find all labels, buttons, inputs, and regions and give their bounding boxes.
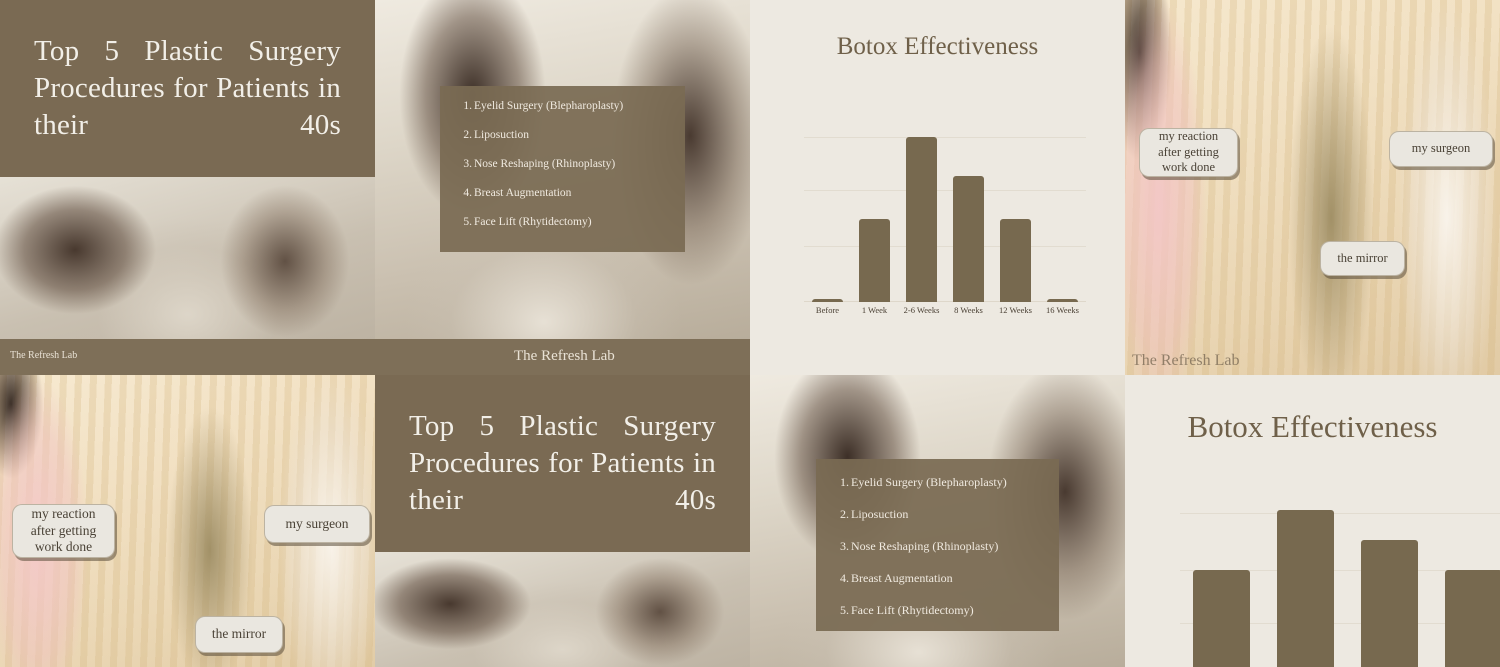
x-tick-label: 1 Week: [851, 305, 898, 315]
caption-bubble-mirror[interactable]: the mirror: [195, 616, 283, 653]
list-item: 5. Face Lift (Rhytidectomy): [458, 216, 669, 228]
chart-title: Botox Effectiveness: [1125, 409, 1500, 445]
bar-12-weeks[interactable]: [1445, 570, 1500, 667]
list-item: 1. Eyelid Surgery (Blepharoplasty): [458, 100, 669, 112]
list-item-label: Breast Augmentation: [474, 187, 571, 199]
list-item-number: 3.: [834, 539, 849, 554]
list-item: 4. Breast Augmentation: [834, 571, 1043, 586]
panel-procedure-list-bottom[interactable]: 1. Eyelid Surgery (Blepharoplasty) 2. Li…: [750, 375, 1125, 667]
title-block: Top 5 Plastic Surgery Procedures for Pat…: [0, 0, 375, 177]
mirror-photo-image-3: [375, 552, 750, 667]
list-item-label: Eyelid Surgery (Blepharoplasty): [474, 100, 623, 112]
bar-before[interactable]: [812, 299, 844, 302]
panel-title-card-bottom[interactable]: Top 5 Plastic Surgery Procedures for Pat…: [375, 375, 750, 667]
bar-slot: [804, 132, 851, 302]
bar-2-6-weeks[interactable]: [906, 137, 938, 302]
caption-bubble-mirror[interactable]: the mirror: [1320, 241, 1405, 276]
bar-8-weeks[interactable]: [1361, 540, 1418, 667]
page-title: Top 5 Plastic Surgery Procedures for Pat…: [409, 408, 716, 519]
list-item-label: Liposuction: [474, 129, 529, 141]
list-item-number: 4.: [458, 187, 472, 199]
bar-slot: [945, 132, 992, 302]
bar-slot: [1180, 510, 1264, 667]
list-item: 4. Breast Augmentation: [458, 187, 669, 199]
brand-label-left: The Refresh Lab: [10, 350, 77, 361]
list-item: 1. Eyelid Surgery (Blepharoplasty): [834, 475, 1043, 490]
list-item-number: 2.: [458, 129, 472, 141]
panel-meme-bottom-left[interactable]: my reaction after getting work done my s…: [0, 375, 375, 667]
bar-2-6-weeks[interactable]: [1277, 510, 1334, 667]
caption-bubble-reaction[interactable]: my reaction after getting work done: [1139, 128, 1238, 177]
list-item-number: 2.: [834, 507, 849, 522]
list-item-number: 5.: [834, 603, 849, 618]
list-item-number: 5.: [458, 216, 472, 228]
x-tick-label: 16 Weeks: [1039, 305, 1086, 315]
page-title: Top 5 Plastic Surgery Procedures for Pat…: [34, 33, 341, 144]
panel-botox-chart-zoomed[interactable]: Botox Effectiveness: [1125, 375, 1500, 667]
x-tick-label: 2-6 Weeks: [898, 305, 945, 315]
chart-bars: [804, 132, 1086, 302]
title-block: Top 5 Plastic Surgery Procedures for Pat…: [375, 375, 750, 552]
bar-slot: [1264, 510, 1348, 667]
list-item-label: Nose Reshaping (Rhinoplasty): [474, 158, 615, 170]
list-item: 2. Liposuction: [834, 507, 1043, 522]
caption-bubble-surgeon[interactable]: my surgeon: [1389, 131, 1493, 167]
photo-mirror-top-left: [0, 177, 375, 339]
list-item: 2. Liposuction: [458, 129, 669, 141]
procedure-list-card: 1. Eyelid Surgery (Blepharoplasty) 2. Li…: [816, 459, 1059, 631]
bar-8-weeks[interactable]: [953, 176, 985, 302]
list-item: 3. Nose Reshaping (Rhinoplasty): [834, 539, 1043, 554]
procedure-list: 1. Eyelid Surgery (Blepharoplasty) 2. Li…: [834, 475, 1043, 618]
chart-title: Botox Effectiveness: [750, 33, 1125, 61]
list-item-label: Face Lift (Rhytidectomy): [474, 216, 592, 228]
chart-bars: [1180, 510, 1500, 667]
list-item-number: 1.: [834, 475, 849, 490]
x-tick-label: 12 Weeks: [992, 305, 1039, 315]
list-item-label: Face Lift (Rhytidectomy): [851, 603, 974, 618]
caption-bubble-reaction[interactable]: my reaction after getting work done: [12, 504, 115, 558]
procedure-list-card: 1. Eyelid Surgery (Blepharoplasty) 2. Li…: [440, 86, 685, 252]
caption-bubble-surgeon[interactable]: my surgeon: [264, 505, 370, 543]
list-item-number: 4.: [834, 571, 849, 586]
list-item-label: Liposuction: [851, 507, 908, 522]
bar-1-week[interactable]: [859, 219, 891, 302]
brand-overlay-label: The Refresh Lab: [1132, 352, 1240, 370]
procedure-list: 1. Eyelid Surgery (Blepharoplasty) 2. Li…: [458, 100, 669, 228]
chart-x-axis-labels: Before 1 Week 2-6 Weeks 8 Weeks 12 Weeks…: [804, 305, 1086, 315]
chart-plot-area: [1180, 510, 1500, 667]
bar-slot: [992, 132, 1039, 302]
bar-slot: [1431, 510, 1500, 667]
bar-1-week[interactable]: [1193, 570, 1250, 667]
mirror-photo-image: [0, 177, 375, 339]
list-item: 3. Nose Reshaping (Rhinoplasty): [458, 158, 669, 170]
x-tick-label: Before: [804, 305, 851, 315]
brand-label-right: The Refresh Lab: [514, 348, 615, 365]
bar-slot: [1348, 510, 1432, 667]
bar-slot: [1039, 132, 1086, 302]
panel-title-card-top-left[interactable]: Top 5 Plastic Surgery Procedures for Pat…: [0, 0, 375, 375]
bar-slot: [898, 132, 945, 302]
closet-photo-image: [1125, 0, 1500, 375]
x-tick-label: 8 Weeks: [945, 305, 992, 315]
list-item-label: Nose Reshaping (Rhinoplasty): [851, 539, 998, 554]
list-item-number: 3.: [458, 158, 472, 170]
panel-meme-top-right[interactable]: my reaction after getting work done my s…: [1125, 0, 1500, 375]
list-item-label: Eyelid Surgery (Blepharoplasty): [851, 475, 1007, 490]
bar-12-weeks[interactable]: [1000, 219, 1032, 302]
panel-botox-chart[interactable]: Botox Effectiveness Before 1 Week 2-6 We…: [750, 0, 1125, 375]
list-item: 5. Face Lift (Rhytidectomy): [834, 603, 1043, 618]
bar-slot: [851, 132, 898, 302]
panel-procedure-list-top[interactable]: 1. Eyelid Surgery (Blepharoplasty) 2. Li…: [375, 0, 750, 375]
content-grid: Top 5 Plastic Surgery Procedures for Pat…: [0, 0, 1500, 667]
list-item-number: 1.: [458, 100, 472, 112]
chart-plot-area: [804, 132, 1086, 302]
bar-16-weeks[interactable]: [1047, 299, 1079, 302]
list-item-label: Breast Augmentation: [851, 571, 953, 586]
